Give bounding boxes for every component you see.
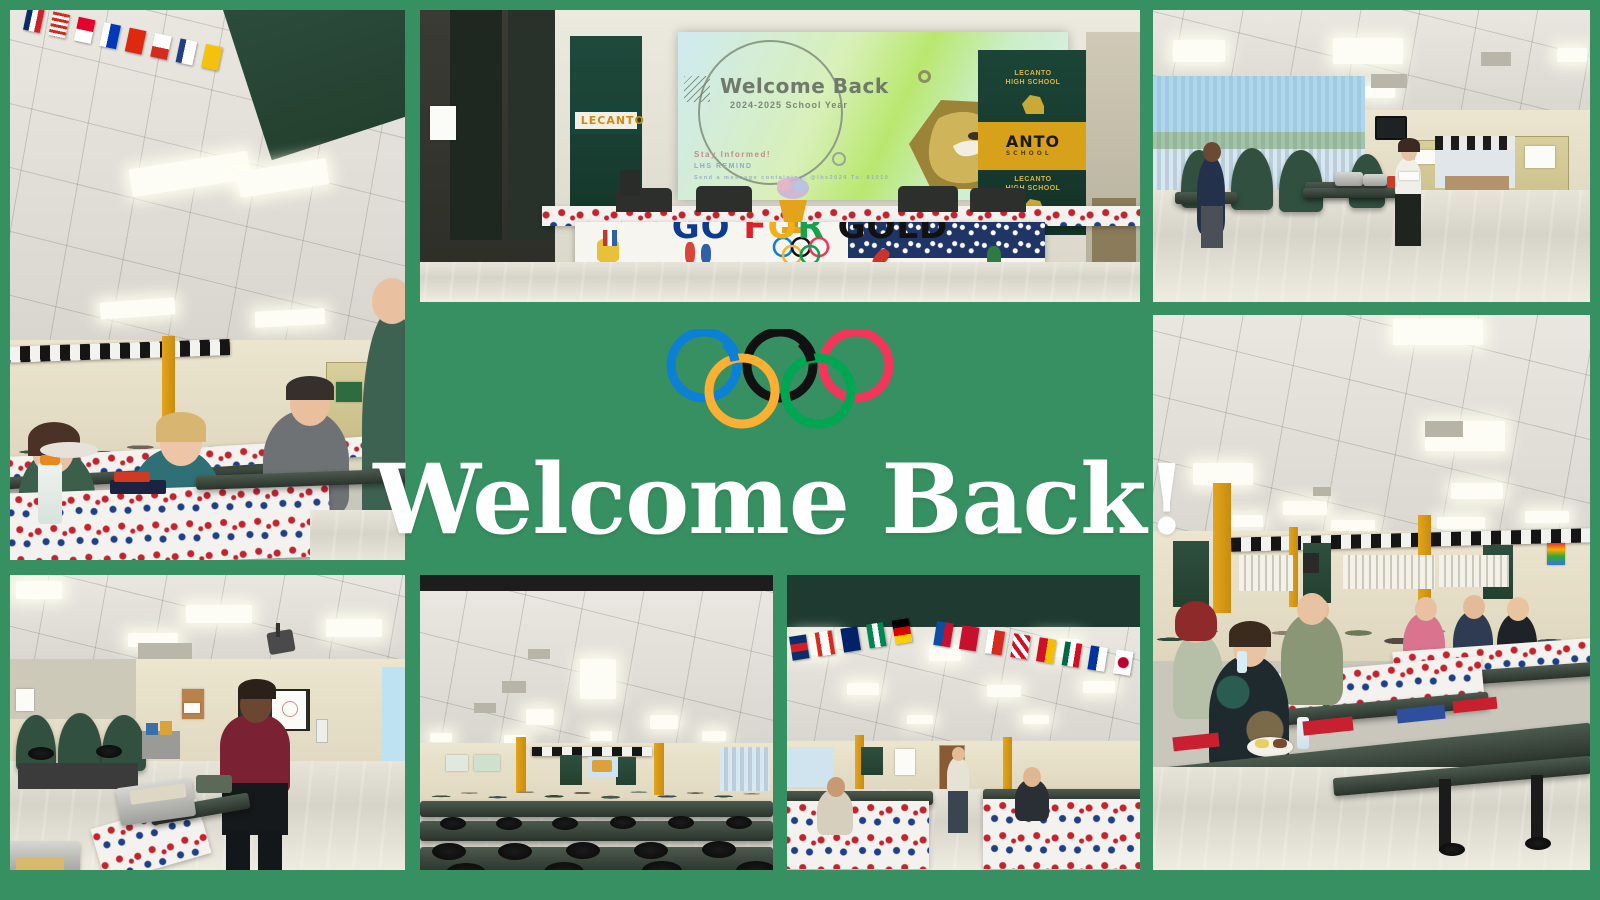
lecanto-wall-banner: LECANTO [572,106,640,134]
banner-part-f: F [743,222,767,247]
door-sign [1525,146,1555,168]
photo-serving-room [1153,10,1590,302]
slide-heading: Welcome Back [720,74,889,98]
flag [1087,645,1108,671]
flag [892,618,913,644]
photo-flags-ceiling [10,10,405,560]
stool [498,843,532,860]
flag [99,22,121,49]
gold-band-text: ANTO [1006,134,1060,151]
lecanto-logo-tag: LECANTOHIGH SCHOOL [990,70,1076,88]
banner-part-gold: GOLD [838,222,949,247]
banner-part-go: GO [672,222,744,247]
photo-collage: Welcome Back 2024-2025 School Year Stay … [0,0,1600,900]
flag [959,625,980,651]
flag [866,622,887,648]
olympic-rings-icon [662,329,898,434]
flag [933,621,954,647]
slide-note-title: Stay Informed! [694,150,771,159]
flag [176,38,198,65]
stool [702,841,736,858]
person-green-shirt [1281,613,1343,705]
banner-part-o: O [768,222,798,247]
photo-cafeteria-crowd [1153,315,1590,870]
flag [48,11,70,38]
flag [1062,641,1083,667]
tile-cafeteria-crowd [1153,315,1590,870]
photo-flag-aisle [787,575,1140,870]
flag [1010,633,1031,659]
photo-buffet-host [10,575,405,870]
tile-serving-room [1153,10,1590,302]
tile-flag-aisle [787,575,1140,870]
person-walking [947,757,969,795]
banner-text: GO FOR GOLD [672,222,949,244]
gold-band-sub: SCHOOL [1006,151,1060,157]
flag [789,634,810,660]
tile-presentation: Welcome Back 2024-2025 School Year Stay … [420,10,1140,302]
stool [566,842,600,859]
table-cloth [983,799,1140,869]
flag [985,629,1006,655]
flag [23,10,45,33]
flag [840,626,861,652]
tile-buffet-host [10,575,405,870]
lecanto-banner-label: LECANTO [575,112,638,129]
flag [74,17,96,44]
flag [815,630,836,656]
flag [1036,637,1057,663]
table-cloth [787,801,929,869]
stool [432,843,466,860]
flag [1113,649,1134,675]
tile-flags-ceiling [10,10,405,560]
door-sign [1415,150,1437,164]
flag [125,28,147,55]
slide-note-line2: LHS REMIND [694,163,753,170]
wall-tv [1375,116,1407,140]
page-title: Welcome Back! [373,452,1187,548]
buffet-table [1303,188,1405,198]
slide-subheading: 2024-2025 School Year [730,100,848,110]
flag [150,33,172,60]
ceiling-projector [266,629,295,655]
tile-empty-tables [420,575,773,870]
banner-part-r: R [798,222,838,247]
photo-empty-tables [420,575,773,870]
panther-mini-icon [1016,92,1046,116]
hero-welcome-block: Welcome Back! [420,302,1140,575]
stool [634,842,668,859]
gold-band: ANTO SCHOOL [978,122,1088,170]
photo-presentation: Welcome Back 2024-2025 School Year Stay … [420,10,1140,302]
flag [201,44,223,71]
